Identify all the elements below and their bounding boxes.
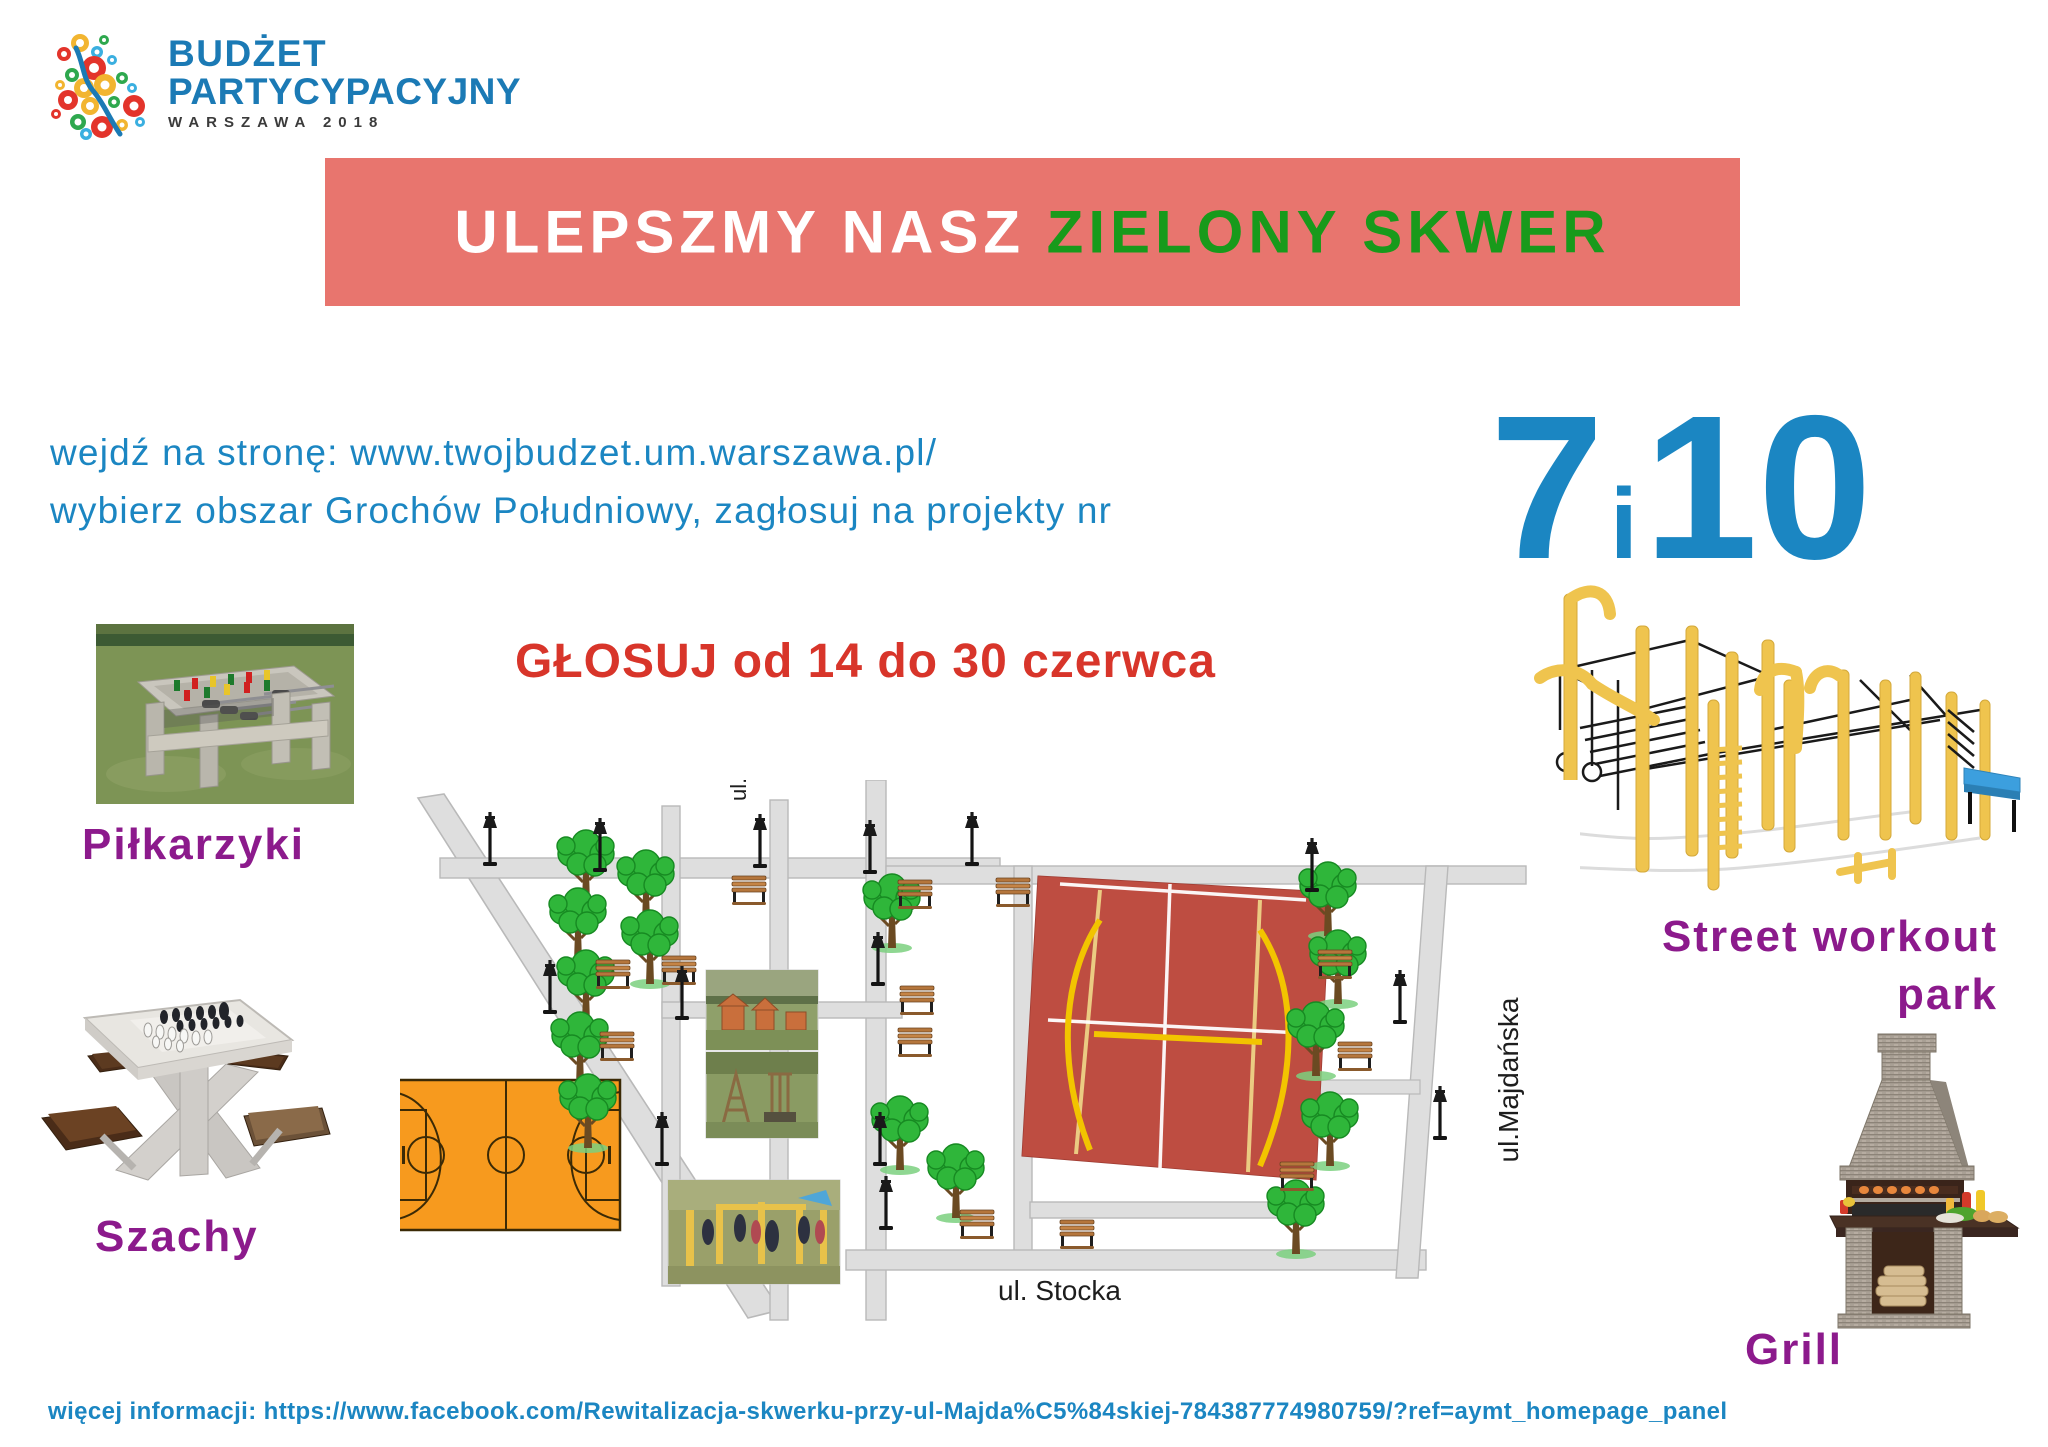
- logo-line-2: PARTYCYPACYJNY: [168, 73, 521, 111]
- foosball-label: Piłkarzyki: [82, 820, 305, 870]
- instruction-line-2: wybierz obszar Grochów Południowy, zagło…: [50, 482, 1470, 540]
- map-sports-court: [1022, 876, 1330, 1180]
- street-label-korytnicka: ul. Korytnicka: [726, 780, 751, 801]
- more-info-link[interactable]: więcej informacji: https://www.facebook.…: [48, 1398, 1728, 1426]
- site-map: ul. Krypska ul. Korytnicka ul. Kruszewsk…: [400, 780, 1580, 1360]
- headline-part-white: ULEPSZMY NASZ: [454, 199, 1046, 266]
- map-inset-workout-users: [668, 1180, 840, 1284]
- logo-line-1: BUDŻET: [168, 35, 521, 73]
- map-inset-playground-b: [706, 1052, 818, 1138]
- gear-cluster-emblem-icon: [42, 30, 162, 140]
- poster-root: BUDŻET PARTYCYPACYJNY WARSZAWA 2018 ULEP…: [0, 0, 2048, 1447]
- grill-photo: [1822, 1030, 2034, 1338]
- street-label-stocka: ul. Stocka: [998, 1275, 1121, 1306]
- budzet-partycypacyjny-logo: BUDŻET PARTYCYPACYJNY WARSZAWA 2018: [42, 30, 442, 140]
- project-number-first: 7: [1490, 373, 1604, 602]
- headline-text: ULEPSZMY NASZ ZIELONY SKWER: [325, 198, 1740, 267]
- project-number-conjunction: i: [1604, 468, 1644, 580]
- map-inset-playground-a: [706, 970, 818, 1050]
- instruction-line-1: wejdź na stronę: www.twojbudzet.um.warsz…: [50, 424, 1470, 482]
- voting-instructions: wejdź na stronę: www.twojbudzet.um.warsz…: [50, 424, 1470, 540]
- street-label-majdanska: ul.Majdańska: [1493, 997, 1524, 1162]
- project-number-second: 10: [1644, 373, 1872, 602]
- headline-part-green: ZIELONY SKWER: [1047, 199, 1611, 266]
- chess-label: Szachy: [95, 1212, 259, 1262]
- foosball-photo: [96, 624, 354, 804]
- chess-table-photo: [30, 968, 350, 1196]
- headline-banner: ULEPSZMY NASZ ZIELONY SKWER: [325, 158, 1740, 306]
- vote-dates-text: GŁOSUJ od 14 do 30 czerwca: [515, 634, 1216, 689]
- project-numbers: 7i10: [1490, 385, 1872, 590]
- logo-line-3: WARSZAWA 2018: [168, 113, 521, 133]
- grill-label: Grill: [1745, 1325, 1843, 1375]
